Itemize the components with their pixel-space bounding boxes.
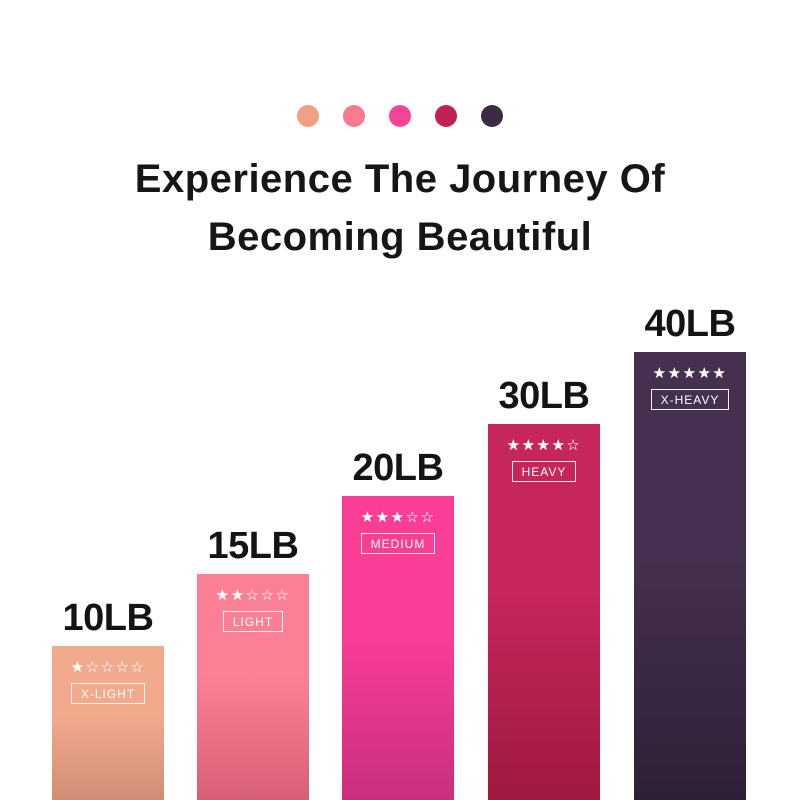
bar-30lb-tier-badge: HEAVY <box>512 461 577 482</box>
bar-40lb-group[interactable]: 40LB★★★★★X-HEAVY <box>634 352 746 800</box>
product-chart-graphic: Experience The Journey Of Becoming Beaut… <box>0 0 800 800</box>
bar-40lb-star-rating: ★★★★★ <box>653 366 728 381</box>
bar-15lb[interactable]: ★★☆☆☆LIGHT <box>197 574 309 800</box>
bar-40lb-value-label: 40LB <box>634 303 746 352</box>
bar-20lb-group[interactable]: 20LB★★★☆☆MEDIUM <box>342 496 454 800</box>
bar-15lb-tier-badge: LIGHT <box>223 611 283 632</box>
bar-20lb[interactable]: ★★★☆☆MEDIUM <box>342 496 454 800</box>
bar-40lb-tier-badge: X-HEAVY <box>651 389 730 410</box>
bar-30lb-value-label: 30LB <box>488 375 600 424</box>
bar-10lb-tier-badge: X-LIGHT <box>71 683 145 704</box>
bar-30lb-star-rating: ★★★★☆ <box>507 438 582 453</box>
bar-20lb-star-rating: ★★★☆☆ <box>361 510 436 525</box>
bar-20lb-tier-badge: MEDIUM <box>361 533 436 554</box>
resistance-band-bar-chart: 10LB★☆☆☆☆X-LIGHT15LB★★☆☆☆LIGHT20LB★★★☆☆M… <box>0 0 800 800</box>
bar-40lb[interactable]: ★★★★★X-HEAVY <box>634 352 746 800</box>
bar-10lb-value-label: 10LB <box>52 597 164 646</box>
bar-30lb-group[interactable]: 30LB★★★★☆HEAVY <box>488 424 600 800</box>
bar-15lb-value-label: 15LB <box>197 525 309 574</box>
bar-10lb-group[interactable]: 10LB★☆☆☆☆X-LIGHT <box>52 646 164 800</box>
bar-10lb[interactable]: ★☆☆☆☆X-LIGHT <box>52 646 164 800</box>
bar-30lb[interactable]: ★★★★☆HEAVY <box>488 424 600 800</box>
bar-20lb-value-label: 20LB <box>342 447 454 496</box>
bar-15lb-group[interactable]: 15LB★★☆☆☆LIGHT <box>197 574 309 800</box>
bar-15lb-star-rating: ★★☆☆☆ <box>216 588 291 603</box>
bar-10lb-star-rating: ★☆☆☆☆ <box>71 660 146 675</box>
